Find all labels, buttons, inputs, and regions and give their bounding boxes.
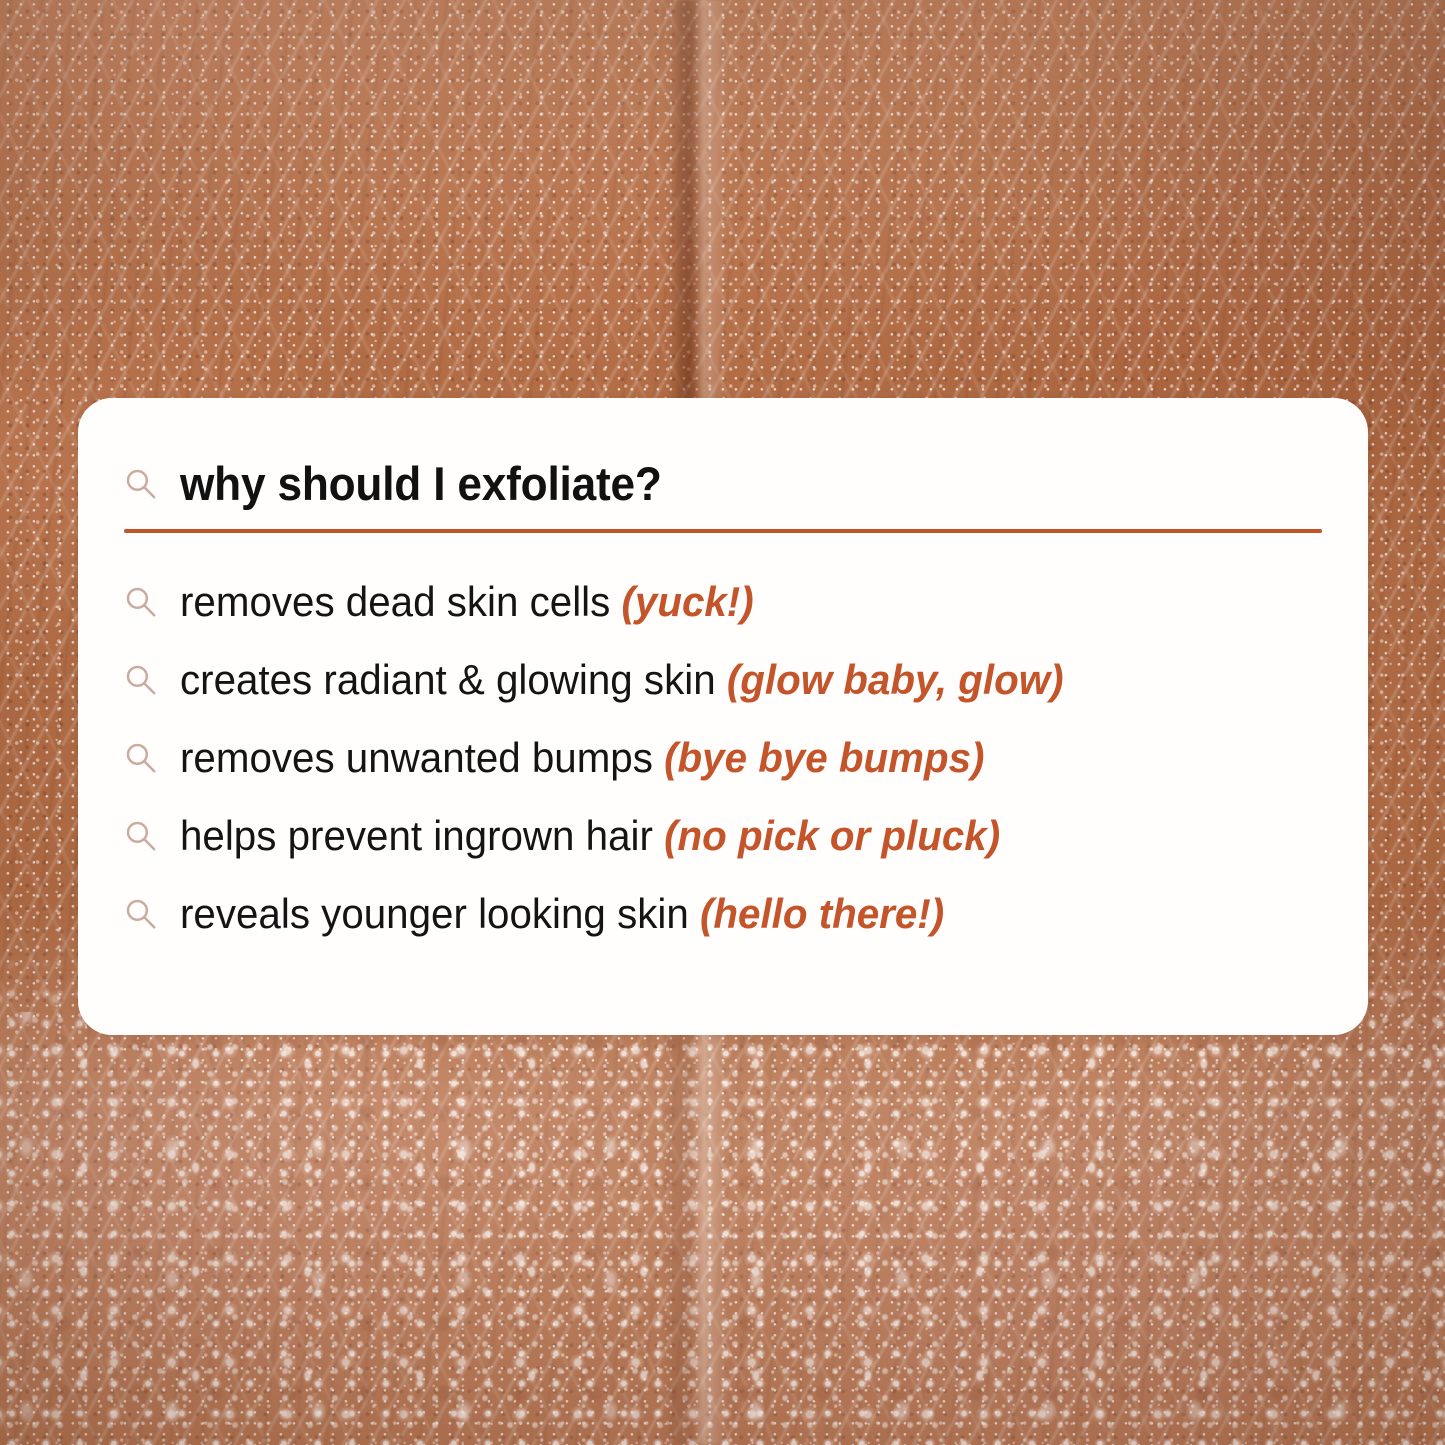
benefit-text: helps prevent ingrown hair (no pick or p… (180, 815, 1000, 857)
card-header: why should I exfoliate? (122, 460, 1324, 507)
benefit-label: removes dead skin cells (180, 578, 621, 625)
info-card-content: why should I exfoliate? removes dead ski… (122, 460, 1324, 953)
benefit-text: reveals younger looking skin (hello ther… (180, 893, 944, 935)
benefit-note: (hello there!) (700, 890, 944, 937)
benefit-label: helps prevent ingrown hair (180, 812, 664, 859)
benefit-note: (no pick or pluck) (664, 812, 1000, 859)
benefits-list: removes dead skin cells (yuck!) creates … (122, 563, 1324, 953)
list-item: creates radiant & glowing skin (glow bab… (122, 641, 1324, 719)
infographic-canvas: why should I exfoliate? removes dead ski… (0, 0, 1445, 1445)
header-divider (124, 529, 1322, 533)
list-item: helps prevent ingrown hair (no pick or p… (122, 797, 1324, 875)
benefit-text: creates radiant & glowing skin (glow bab… (180, 659, 1064, 701)
list-item: removes unwanted bumps (bye bye bumps) (122, 719, 1324, 797)
benefit-text: removes unwanted bumps (bye bye bumps) (180, 737, 984, 779)
page-title: why should I exfoliate? (180, 460, 662, 507)
search-icon (124, 741, 158, 775)
benefit-label: removes unwanted bumps (180, 734, 664, 781)
benefit-text: removes dead skin cells (yuck!) (180, 581, 754, 623)
list-item: reveals younger looking skin (hello ther… (122, 875, 1324, 953)
list-item: removes dead skin cells (yuck!) (122, 563, 1324, 641)
benefit-note: (glow baby, glow) (727, 656, 1064, 703)
benefit-label: creates radiant & glowing skin (180, 656, 727, 703)
search-icon (124, 467, 158, 501)
search-icon (124, 585, 158, 619)
benefit-note: (bye bye bumps) (664, 734, 984, 781)
benefit-note: (yuck!) (621, 578, 753, 625)
search-icon (124, 897, 158, 931)
benefit-label: reveals younger looking skin (180, 890, 700, 937)
search-icon (124, 819, 158, 853)
info-card: why should I exfoliate? removes dead ski… (78, 398, 1368, 1035)
search-icon (124, 663, 158, 697)
